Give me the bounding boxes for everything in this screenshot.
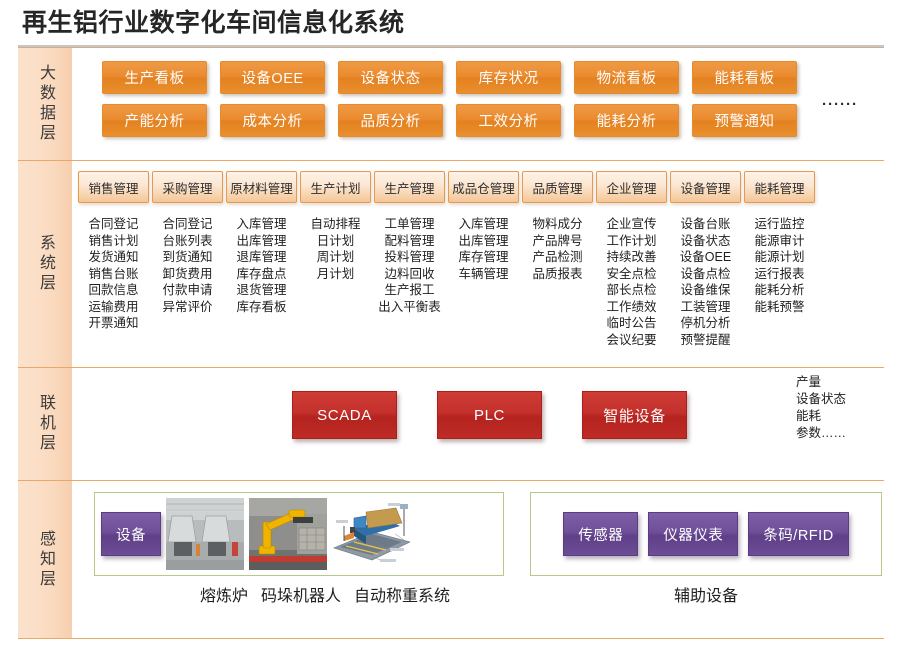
system-module-item-list: 工单管理配料管理投料管理边料回收生产报工出入平衡表: [374, 216, 445, 315]
bigdata-row-2: 产能分析 成本分析 品质分析 工效分析 能耗分析 预警通知: [102, 104, 802, 137]
system-module-item[interactable]: 卸货费用: [152, 266, 223, 283]
system-module-item[interactable]: 库存看板: [226, 299, 297, 316]
system-module-grid: 销售管理合同登记销售计划发货通知销售台账回款信息运输费用开票通知采购管理合同登记…: [78, 171, 878, 348]
system-module-item[interactable]: 车辆管理: [448, 266, 519, 283]
system-module-item[interactable]: 台账列表: [152, 233, 223, 250]
system-module-column: 生产计划自动排程日计划周计划月计划: [300, 171, 371, 348]
system-module-item-list: 运行监控能源审计能源计划运行报表能耗分析能耗预警: [744, 216, 815, 315]
system-module-column: 设备管理设备台账设备状态设备OEE设备点检设备维保工装管理停机分析预警提醒: [670, 171, 741, 348]
system-module-item[interactable]: 工单管理: [374, 216, 445, 233]
system-module-item[interactable]: 物料成分: [522, 216, 593, 233]
system-module-header[interactable]: 生产计划: [300, 171, 371, 203]
system-module-item-list: 合同登记销售计划发货通知销售台账回款信息运输费用开票通知: [78, 216, 149, 332]
sense-panel-row: 设备: [94, 492, 884, 576]
system-module-header[interactable]: 能耗管理: [744, 171, 815, 203]
bigdata-button[interactable]: 能耗看板: [692, 61, 797, 94]
system-module-item[interactable]: 工作计划: [596, 233, 667, 250]
system-module-item-list: 自动排程日计划周计划月计划: [300, 216, 371, 282]
system-module-item-list: 合同登记台账列表到货通知卸货费用付款申请异常评价: [152, 216, 223, 315]
bigdata-button[interactable]: 能耗分析: [574, 104, 679, 137]
system-module-header[interactable]: 销售管理: [78, 171, 149, 203]
layer-stack: 大数据层 生产看板 设备OEE 设备状态 库存状况 物流看板 能耗看板 产能分析…: [18, 47, 884, 639]
system-module-item[interactable]: 投料管理: [374, 249, 445, 266]
bigdata-button[interactable]: 成本分析: [220, 104, 325, 137]
sense-caption: 自动称重系统: [354, 582, 450, 606]
layer-label-system-text: 系统层: [34, 234, 56, 294]
system-module-header[interactable]: 成品仓管理: [448, 171, 519, 203]
system-module-column: 采购管理合同登记台账列表到货通知卸货费用付款申请异常评价: [152, 171, 223, 348]
sense-aux-caption: 辅助设备: [530, 582, 882, 606]
system-module-item[interactable]: 设备OEE: [670, 249, 741, 266]
system-module-item[interactable]: 入库管理: [226, 216, 297, 233]
system-module-item[interactable]: 能耗分析: [744, 282, 815, 299]
bigdata-button[interactable]: 工效分析: [456, 104, 561, 137]
system-module-item[interactable]: 销售台账: [78, 266, 149, 283]
system-module-item[interactable]: 部长点检: [596, 282, 667, 299]
sense-caption: 熔炼炉: [200, 582, 248, 606]
sense-main-captions: 熔炼炉 码垛机器人 自动称重系统: [94, 582, 504, 606]
sense-button-instrument[interactable]: 仪器仪表: [648, 512, 738, 556]
layer-connect-body: SCADA PLC 智能设备 产量 设备状态 能耗 参数……: [72, 367, 884, 480]
system-module-item[interactable]: 异常评价: [152, 299, 223, 316]
connect-box-smart-device[interactable]: 智能设备: [582, 391, 687, 439]
layer-label-connect: 联机层: [18, 367, 72, 480]
system-module-item[interactable]: 设备点检: [670, 266, 741, 283]
page-title: 再生铝行业数字化车间信息化系统: [22, 6, 405, 40]
system-module-item-list: 设备台账设备状态设备OEE设备点检设备维保工装管理停机分析预警提醒: [670, 216, 741, 348]
system-module-item[interactable]: 自动排程: [300, 216, 371, 233]
bigdata-button[interactable]: 预警通知: [692, 104, 797, 137]
system-module-header[interactable]: 企业管理: [596, 171, 667, 203]
system-module-item[interactable]: 运行监控: [744, 216, 815, 233]
system-module-item[interactable]: 工装管理: [670, 299, 741, 316]
system-module-item[interactable]: 合同登记: [78, 216, 149, 233]
system-module-item[interactable]: 设备状态: [670, 233, 741, 250]
system-module-column: 能耗管理运行监控能源审计能源计划运行报表能耗分析能耗预警: [744, 171, 815, 348]
connect-box-scada[interactable]: SCADA: [292, 391, 397, 439]
system-module-header[interactable]: 生产管理: [374, 171, 445, 203]
system-module-item-list: 物料成分产品牌号产品检测品质报表: [522, 216, 593, 282]
system-module-item[interactable]: 能源计划: [744, 249, 815, 266]
system-module-item[interactable]: 付款申请: [152, 282, 223, 299]
sense-button-equipment[interactable]: 设备: [101, 512, 161, 556]
sense-caption: 码垛机器人: [261, 582, 341, 606]
system-module-item[interactable]: 出库管理: [448, 233, 519, 250]
system-module-header[interactable]: 原材料管理: [226, 171, 297, 203]
system-module-header[interactable]: 设备管理: [670, 171, 741, 203]
system-module-item[interactable]: 设备台账: [670, 216, 741, 233]
system-module-item[interactable]: 回款信息: [78, 282, 149, 299]
system-module-item[interactable]: 生产报工: [374, 282, 445, 299]
system-module-item[interactable]: 入库管理: [448, 216, 519, 233]
system-module-column: 销售管理合同登记销售计划发货通知销售台账回款信息运输费用开票通知: [78, 171, 149, 348]
system-module-item[interactable]: 周计划: [300, 249, 371, 266]
system-module-item[interactable]: 日计划: [300, 233, 371, 250]
system-module-item[interactable]: 月计划: [300, 266, 371, 283]
palletizing-robot-photo: [249, 498, 327, 570]
auto-weighing-system-diagram: [332, 498, 410, 570]
system-module-item[interactable]: 到货通知: [152, 249, 223, 266]
system-module-item[interactable]: 开票通知: [78, 315, 149, 332]
diagram-canvas: 再生铝行业数字化车间信息化系统 大数据层 生产看板 设备OEE 设备状态 库存状…: [0, 0, 900, 645]
connect-signal-notes: 产量 设备状态 能耗 参数……: [796, 374, 846, 442]
system-module-item[interactable]: 持续改善: [596, 249, 667, 266]
bigdata-button[interactable]: 设备OEE: [220, 61, 325, 94]
melting-furnace-photo: [166, 498, 244, 570]
system-module-item[interactable]: 库存盘点: [226, 266, 297, 283]
bigdata-more-ellipsis: ······: [822, 96, 858, 113]
system-module-item[interactable]: 边料回收: [374, 266, 445, 283]
system-module-column: 生产管理工单管理配料管理投料管理边料回收生产报工出入平衡表: [374, 171, 445, 348]
system-module-item[interactable]: 安全点检: [596, 266, 667, 283]
bigdata-button[interactable]: 物流看板: [574, 61, 679, 94]
system-module-item[interactable]: 临时公告: [596, 315, 667, 332]
connect-box-plc[interactable]: PLC: [437, 391, 542, 439]
system-module-item[interactable]: 退库管理: [226, 249, 297, 266]
bigdata-button-grid: 生产看板 设备OEE 设备状态 库存状况 物流看板 能耗看板 产能分析 成本分析…: [102, 61, 802, 147]
bigdata-button[interactable]: 品质分析: [338, 104, 443, 137]
sense-caption-row: 熔炼炉 码垛机器人 自动称重系统 辅助设备: [94, 582, 884, 606]
system-module-item[interactable]: 品质报表: [522, 266, 593, 283]
system-module-item[interactable]: 配料管理: [374, 233, 445, 250]
layer-bigdata: 大数据层 生产看板 设备OEE 设备状态 库存状况 物流看板 能耗看板 产能分析…: [18, 47, 884, 160]
sense-auxiliary-panel: 传感器 仪器仪表 条码/RFID: [530, 492, 882, 576]
layer-label-sense-text: 感知层: [34, 530, 56, 590]
system-module-item[interactable]: 库存管理: [448, 249, 519, 266]
sense-content: 设备: [94, 492, 884, 606]
layer-label-system: 系统层: [18, 160, 72, 367]
system-module-item-list: 入库管理出库管理库存管理车辆管理: [448, 216, 519, 282]
bigdata-button[interactable]: 库存状况: [456, 61, 561, 94]
system-module-item[interactable]: 会议纪要: [596, 332, 667, 349]
system-module-item[interactable]: 设备维保: [670, 282, 741, 299]
system-module-header[interactable]: 采购管理: [152, 171, 223, 203]
layer-system-body: 销售管理合同登记销售计划发货通知销售台账回款信息运输费用开票通知采购管理合同登记…: [72, 160, 884, 367]
layer-label-connect-text: 联机层: [34, 394, 56, 454]
connect-note: 能耗: [796, 408, 846, 425]
system-module-item-list: 入库管理出库管理退库管理库存盘点退货管理库存看板: [226, 216, 297, 315]
layer-label-bigdata: 大数据层: [18, 47, 72, 160]
layer-sense: 感知层 设备: [18, 480, 884, 639]
system-module-item[interactable]: 能源审计: [744, 233, 815, 250]
bigdata-row-1: 生产看板 设备OEE 设备状态 库存状况 物流看板 能耗看板: [102, 61, 802, 94]
system-module-item[interactable]: 出库管理: [226, 233, 297, 250]
bigdata-button[interactable]: 生产看板: [102, 61, 207, 94]
system-module-item[interactable]: 合同登记: [152, 216, 223, 233]
layer-label-sense: 感知层: [18, 480, 72, 639]
layer-system: 系统层 销售管理合同登记销售计划发货通知销售台账回款信息运输费用开票通知采购管理…: [18, 160, 884, 367]
connect-note: 设备状态: [796, 391, 846, 408]
system-module-item[interactable]: 产品牌号: [522, 233, 593, 250]
sense-equipment-panel: 设备: [94, 492, 504, 576]
connect-note: 参数……: [796, 425, 846, 442]
layer-bigdata-body: 生产看板 设备OEE 设备状态 库存状况 物流看板 能耗看板 产能分析 成本分析…: [72, 47, 884, 160]
system-module-item[interactable]: 产品检测: [522, 249, 593, 266]
system-module-item-list: 企业宣传工作计划持续改善安全点检部长点检工作绩效临时公告会议纪要: [596, 216, 667, 348]
system-module-item[interactable]: 销售计划: [78, 233, 149, 250]
system-module-column: 品质管理物料成分产品牌号产品检测品质报表: [522, 171, 593, 348]
system-module-column: 企业管理企业宣传工作计划持续改善安全点检部长点检工作绩效临时公告会议纪要: [596, 171, 667, 348]
sense-button-sensor[interactable]: 传感器: [563, 512, 638, 556]
bigdata-button[interactable]: 产能分析: [102, 104, 207, 137]
system-module-item[interactable]: 退货管理: [226, 282, 297, 299]
connect-box-row: SCADA PLC 智能设备: [292, 391, 687, 439]
system-module-header[interactable]: 品质管理: [522, 171, 593, 203]
system-module-item[interactable]: 预警提醒: [670, 332, 741, 349]
system-module-item[interactable]: 工作绩效: [596, 299, 667, 316]
system-module-item[interactable]: 出入平衡表: [374, 299, 445, 316]
system-module-column: 成品仓管理入库管理出库管理库存管理车辆管理: [448, 171, 519, 348]
layer-sense-body: 设备: [72, 480, 884, 639]
system-module-item[interactable]: 停机分析: [670, 315, 741, 332]
layer-label-bigdata-text: 大数据层: [34, 64, 56, 144]
sense-button-barcode-rfid[interactable]: 条码/RFID: [748, 512, 848, 556]
system-module-item[interactable]: 企业宣传: [596, 216, 667, 233]
system-module-item[interactable]: 能耗预警: [744, 299, 815, 316]
system-module-item[interactable]: 发货通知: [78, 249, 149, 266]
system-module-item[interactable]: 运输费用: [78, 299, 149, 316]
connect-note: 产量: [796, 374, 846, 391]
system-module-item[interactable]: 运行报表: [744, 266, 815, 283]
layer-connect: 联机层 SCADA PLC 智能设备 产量 设备状态 能耗 参数……: [18, 367, 884, 480]
system-module-column: 原材料管理入库管理出库管理退库管理库存盘点退货管理库存看板: [226, 171, 297, 348]
bigdata-button[interactable]: 设备状态: [338, 61, 443, 94]
